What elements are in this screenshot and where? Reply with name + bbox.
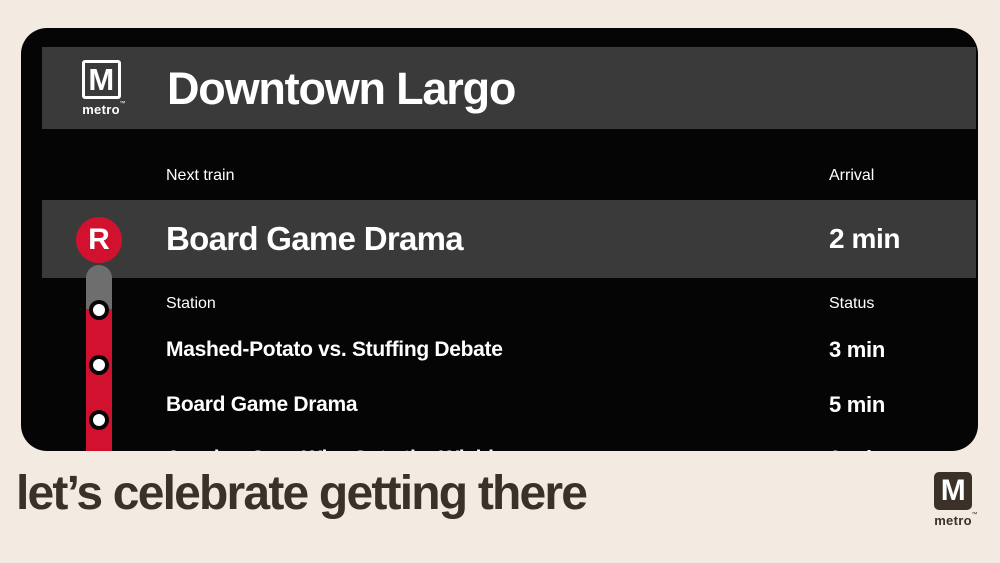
station-column-headers: Station Status <box>21 288 978 320</box>
next-train-row: R Board Game Drama 2 min <box>42 200 976 278</box>
line-badge-r: R <box>76 217 122 263</box>
arrival-column-label: Arrival <box>829 167 874 185</box>
station-name: Arguing Over Who Gets the Wishbone <box>166 447 537 451</box>
arrivals-display-panel: M metro™ Downtown Largo Next train Arriv… <box>21 28 978 451</box>
station-row: Mashed-Potato vs. Stuffing Debate 3 min <box>21 335 978 365</box>
page-title: Downtown Largo <box>167 66 515 111</box>
station-status: 5 min <box>829 392 885 418</box>
station-status: 3 min <box>829 337 885 363</box>
footer-metro-logo: M metro™ <box>925 472 981 528</box>
station-row: Board Game Drama 5 min <box>21 390 978 420</box>
station-name: Board Game Drama <box>166 393 357 417</box>
display-header: M metro™ Downtown Largo <box>42 47 976 129</box>
footer-trademark-icon: ™ <box>972 512 978 518</box>
metro-logo: M metro™ <box>71 60 131 117</box>
next-train-arrival: 2 min <box>829 223 900 255</box>
metro-logo-wordmark: metro™ <box>82 102 120 117</box>
next-train-column-headers: Next train Arrival <box>21 160 978 192</box>
metro-logo-letter: M <box>82 60 121 99</box>
metro-logo-wordmark-text: metro <box>82 102 120 117</box>
tagline: let’s celebrate getting there <box>16 470 586 518</box>
footer-metro-logo-letter: M <box>934 472 972 510</box>
station-row: Arguing Over Who Gets the Wishbone 6 min <box>21 444 978 451</box>
status-column-label: Status <box>829 295 874 313</box>
poster-canvas: M metro™ Downtown Largo Next train Arriv… <box>0 0 1000 563</box>
route-stop-dot <box>89 300 109 320</box>
next-train-column-label: Next train <box>166 167 234 185</box>
next-train-destination: Board Game Drama <box>166 220 463 258</box>
station-status: 6 min <box>829 446 885 451</box>
trademark-icon: ™ <box>120 101 126 107</box>
station-column-label: Station <box>166 295 216 313</box>
footer-metro-logo-wordmark-text: metro <box>934 513 972 528</box>
station-name: Mashed-Potato vs. Stuffing Debate <box>166 338 503 362</box>
footer-metro-logo-wordmark: metro™ <box>934 513 972 528</box>
